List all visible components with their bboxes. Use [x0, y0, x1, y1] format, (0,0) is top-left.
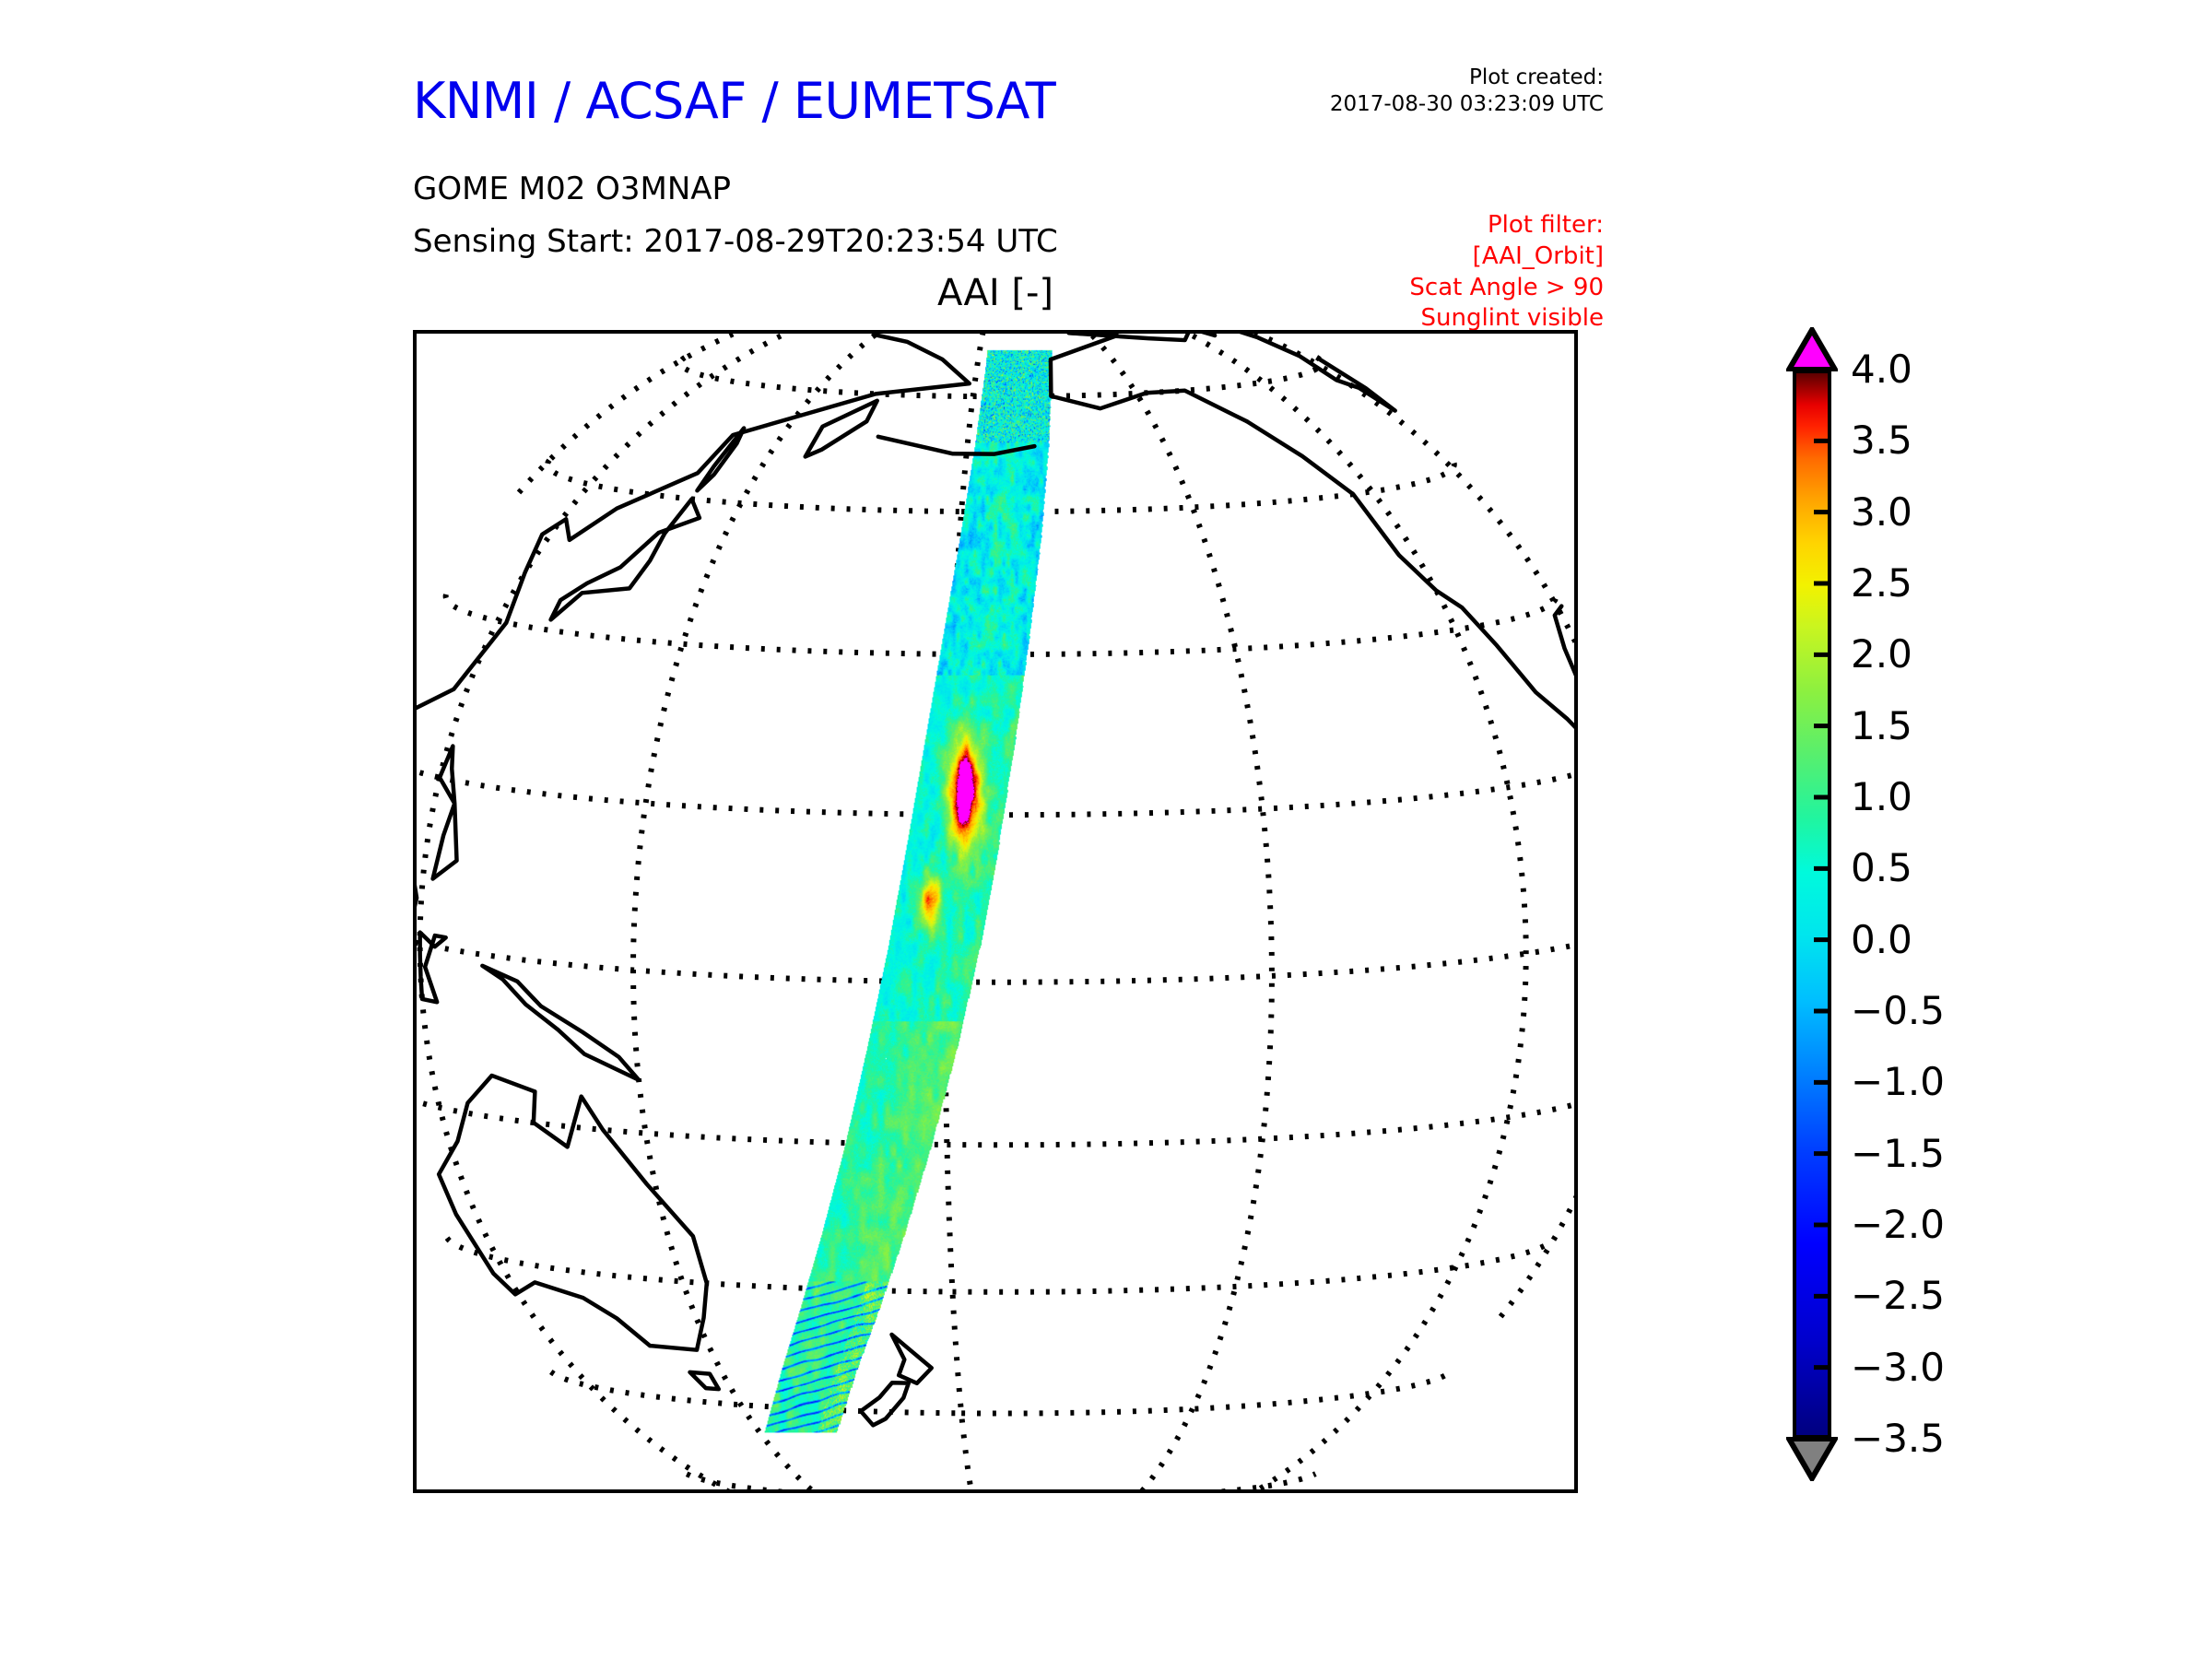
map-plot-area: [413, 330, 1578, 1493]
colorbar-tick-label: 3.5: [1851, 421, 1912, 460]
colorbar-gradient-bar: [1793, 370, 1831, 1439]
colorbar-tick-label: −2.0: [1851, 1206, 1945, 1244]
colorbar-tick-label: −0.5: [1851, 992, 1945, 1030]
colorbar-under-range-arrow: [1786, 1437, 1838, 1481]
colorbar-tick-label: 2.5: [1851, 564, 1912, 603]
colorbar-tick-label: 1.0: [1851, 778, 1912, 817]
dataset-name: GOME M02 O3MNAP: [413, 171, 731, 207]
aai-swath-heatmap: [417, 334, 1574, 1489]
colorbar-tick-label: −3.5: [1851, 1419, 1945, 1458]
organization-title: KNMI / ACSAF / EUMETSAT: [413, 72, 1335, 130]
colorbar-tick-label: −2.5: [1851, 1277, 1945, 1315]
plot-created-value: 2017-08-30 03:23:09 UTC: [1327, 91, 1604, 118]
colorbar-tick-label: −1.5: [1851, 1135, 1945, 1173]
plot-filter-label: Plot filter:: [1281, 210, 1604, 241]
colorbar-tick-label: 3.0: [1851, 493, 1912, 532]
plot-filter-name: [AAI_Orbit]: [1281, 241, 1604, 273]
plot-created-label: Plot created:: [1327, 65, 1604, 91]
sensing-start: Sensing Start: 2017-08-29T20:23:54 UTC: [413, 223, 1058, 260]
colorbar-tick-label: −1.0: [1851, 1063, 1945, 1101]
colorbar-tick-label: 1.5: [1851, 707, 1912, 746]
colorbar-over-range-arrow: [1786, 327, 1838, 371]
colorbar-tick-label: 0.5: [1851, 849, 1912, 888]
colorbar-tick-label: 0.0: [1851, 921, 1912, 959]
colorbar-tick-label: 2.0: [1851, 635, 1912, 674]
colorbar-tick-label: 4.0: [1851, 350, 1912, 389]
plot-created-block: Plot created: 2017-08-30 03:23:09 UTC: [1327, 65, 1604, 119]
colorbar-tick-label: −3.0: [1851, 1348, 1945, 1387]
page-title: AAI [-]: [413, 272, 1578, 314]
